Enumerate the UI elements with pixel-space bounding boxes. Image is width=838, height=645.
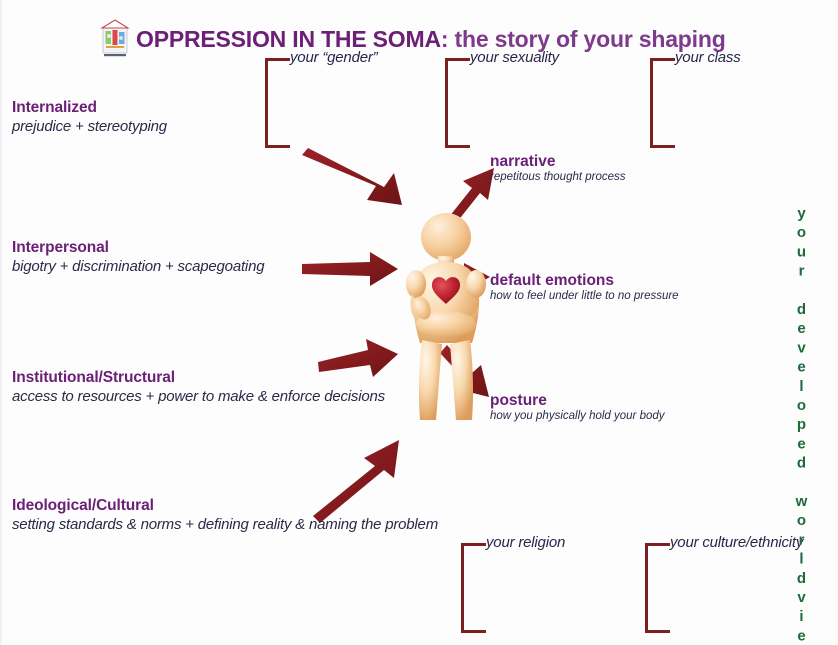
- level-heading: Ideological/Cultural: [12, 497, 438, 515]
- level-label-ideological: Ideological/Cultural setting standards &…: [12, 497, 438, 533]
- identity-bracket-class: your class: [650, 58, 780, 148]
- identity-bracket-sexuality: your sexuality: [445, 58, 575, 148]
- bracket-top-arm: [265, 58, 290, 61]
- bracket-spine: [445, 58, 448, 148]
- identity-bracket-label: your culture/ethnicity: [670, 534, 803, 551]
- bracket-bottom-arm: [445, 145, 470, 148]
- bracket-top-arm: [445, 58, 470, 61]
- arrow-icon-interpersonal: [302, 252, 398, 286]
- bracket-bottom-arm: [461, 630, 486, 633]
- page-title: OPPRESSION IN THE SOMA: the story of you…: [100, 18, 726, 60]
- outcome-heading: posture: [490, 392, 665, 410]
- outcome-subtitle: how to feel under little to no pressure: [490, 290, 679, 302]
- bracket-spine: [461, 543, 464, 633]
- bracket-top-arm: [461, 543, 486, 546]
- arrow-icon-internalized: [302, 148, 402, 205]
- worldview-label: your developed worldview: [782, 205, 810, 420]
- bracket-bottom-arm: [645, 630, 670, 633]
- outcome-subtitle: repetitous thought process: [490, 171, 626, 183]
- bracket-top-arm: [650, 58, 675, 61]
- outcome-heading: default emotions: [490, 272, 679, 290]
- human-figure-with-heart-icon: [386, 212, 506, 430]
- ipi-building-logo-icon: [100, 18, 130, 60]
- bracket-bottom-arm: [650, 145, 675, 148]
- outcome-heading: narrative: [490, 153, 626, 171]
- identity-bracket-label: your “gender”: [290, 49, 377, 66]
- identity-bracket-label: your religion: [486, 534, 565, 551]
- outcome-label-posture: posture how you physically hold your bod…: [490, 392, 665, 422]
- identity-bracket-label: your class: [675, 49, 741, 66]
- identity-bracket-gender: your “gender”: [265, 58, 395, 148]
- bracket-spine: [645, 543, 648, 633]
- level-heading: Institutional/Structural: [12, 369, 385, 387]
- level-subtitle: access to resources + power to make & en…: [12, 388, 385, 405]
- outcome-label-narrative: narrative repetitous thought process: [490, 153, 626, 183]
- level-heading: Internalized: [12, 99, 167, 117]
- level-subtitle: prejudice + stereotyping: [12, 118, 167, 135]
- title-main: OPPRESSION IN THE SOMA: [136, 26, 441, 52]
- level-label-internalized: Internalized prejudice + stereotyping: [12, 99, 167, 135]
- level-label-institutional: Institutional/Structural access to resou…: [12, 369, 385, 405]
- bracket-spine: [265, 58, 268, 148]
- level-label-interpersonal: Interpersonal bigotry + discrimination +…: [12, 239, 264, 275]
- outcome-subtitle: how you physically hold your body: [490, 410, 665, 422]
- identity-bracket-culture-ethnicity: your culture/ethnicity: [645, 543, 775, 633]
- level-subtitle: setting standards & norms + defining rea…: [12, 516, 438, 533]
- level-subtitle: bigotry + discrimination + scapegoating: [12, 258, 264, 275]
- identity-bracket-label: your sexuality: [470, 49, 559, 66]
- level-heading: Interpersonal: [12, 239, 264, 257]
- diagram-canvas: OPPRESSION IN THE SOMA: the story of you…: [0, 0, 838, 645]
- bracket-spine: [650, 58, 653, 148]
- title-sub: : the story of your shaping: [441, 26, 726, 52]
- bracket-top-arm: [645, 543, 670, 546]
- outcome-label-default-emotions: default emotions how to feel under littl…: [490, 272, 679, 302]
- bracket-bottom-arm: [265, 145, 290, 148]
- identity-bracket-religion: your religion: [461, 543, 591, 633]
